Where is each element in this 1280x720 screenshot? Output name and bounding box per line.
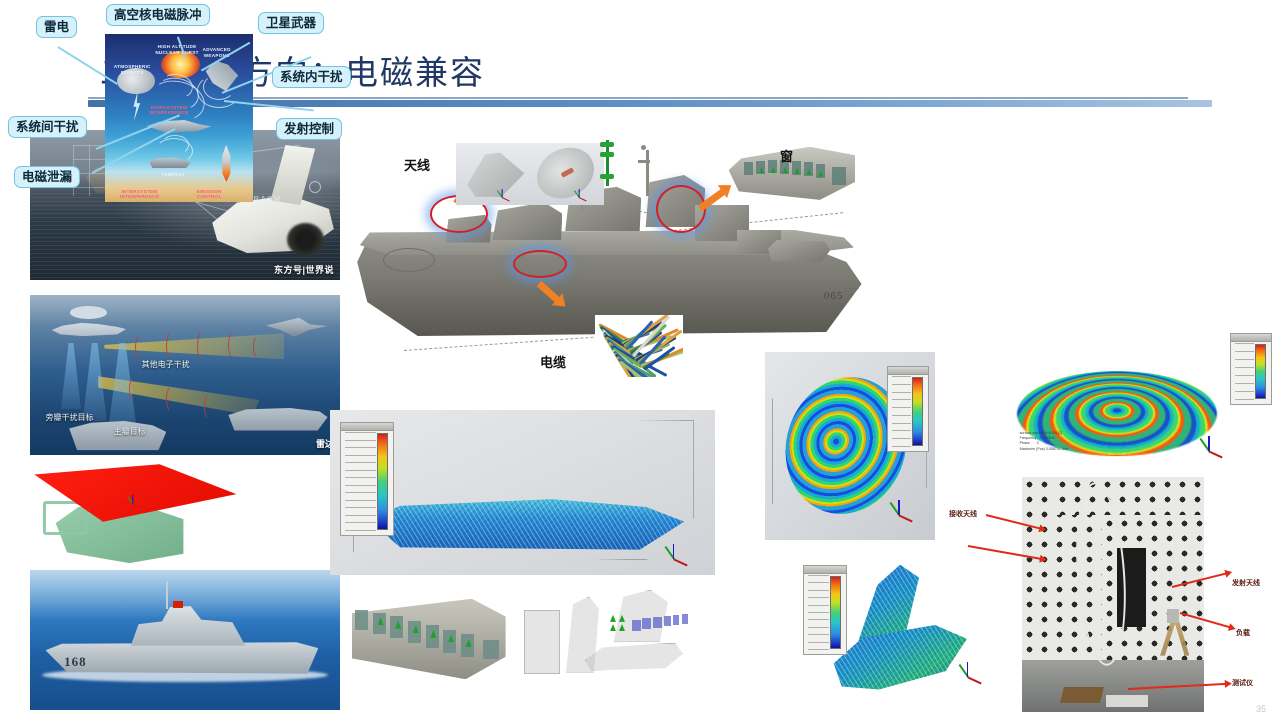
label-emission-control: EMISSIONCONTROL xyxy=(197,189,222,200)
colorbar-gradient xyxy=(1255,344,1266,399)
label-other-jamming: 其他电子干扰 xyxy=(142,359,190,370)
helicopter-deck xyxy=(768,240,830,262)
label-intrasystem-interference: INTRASYSTEMINTERFERENCE xyxy=(149,105,188,116)
window-pane-large xyxy=(483,640,499,659)
coordinate-axes-icon xyxy=(894,495,918,519)
callout-emission-control[interactable]: 发射控制 xyxy=(276,118,342,140)
radar-beam xyxy=(61,343,81,409)
hud-target-ring xyxy=(309,181,321,193)
wooden-bench xyxy=(1060,687,1104,703)
colorbar xyxy=(340,422,394,536)
coordinate-axes-icon xyxy=(669,539,693,563)
ship-mast xyxy=(166,581,168,609)
callout-intrasystem-interference[interactable]: 系统内干扰 xyxy=(272,66,351,88)
absorber-ceiling xyxy=(1055,477,1204,515)
callout-lightning[interactable]: 雷电 xyxy=(36,16,77,38)
field-cell xyxy=(632,620,641,631)
dish-antenna-model xyxy=(528,143,603,205)
cad-bridge-window-model xyxy=(352,585,512,700)
field-cell xyxy=(664,616,671,626)
mast-top-sensor xyxy=(641,145,646,150)
field-probe-icon xyxy=(610,615,616,622)
awacs-radome xyxy=(70,306,107,319)
simulation-annotation: surface current (f=8.00) [1] Frequency 8… xyxy=(1020,431,1068,453)
highlight-cable-region xyxy=(513,250,567,278)
ship-superstructure xyxy=(123,601,253,646)
field-cell xyxy=(653,617,662,628)
colorbar-ticks xyxy=(892,376,911,447)
lightning-bolt-icon xyxy=(132,91,142,121)
colorbar xyxy=(803,565,847,655)
launched-missile xyxy=(218,145,236,182)
colorbar-ticks xyxy=(345,432,376,531)
emc-illustration-image: ATMOSPHERICEFFECTS HIGH ALTITUDENUCLEAR … xyxy=(105,34,253,202)
field-cell xyxy=(673,615,679,625)
leader-dash xyxy=(404,336,604,351)
window-pane xyxy=(355,610,368,630)
label-tempest: TEMPEST xyxy=(161,172,185,178)
measuring-instrument xyxy=(1106,695,1148,707)
coordinate-axes-icon xyxy=(1204,431,1228,455)
chamber-label-load: 负载 xyxy=(1236,628,1250,638)
page-number: 35 xyxy=(1256,704,1266,714)
callout-antenna: 天线 xyxy=(404,155,430,174)
wavefront-arc xyxy=(204,394,216,420)
chamber-label-receive-antenna: 接收天线 xyxy=(949,509,977,519)
blade-antenna-model xyxy=(462,152,530,199)
watermark: 东方号|世界说 xyxy=(274,263,334,276)
highlight-window-region xyxy=(656,185,706,233)
colorbar-title xyxy=(341,423,393,431)
sim-ship-surface-current xyxy=(330,410,715,575)
green-whip-antenna-model xyxy=(600,140,614,186)
transmit-antenna-head xyxy=(1167,609,1179,623)
callout-satellite-weapon[interactable]: 卫星武器 xyxy=(258,12,324,34)
coordinate-axes-icon xyxy=(963,657,987,681)
colorbar-title xyxy=(888,367,928,375)
label-mainlobe-target: 主瓣目标 xyxy=(114,426,146,437)
colorbar-ticks xyxy=(1235,343,1254,400)
cad-radar-array-plate xyxy=(30,455,245,570)
photo-destroyer: 168 xyxy=(30,570,340,710)
window-pane xyxy=(744,162,753,175)
antenna-disc xyxy=(600,152,614,157)
sim-blade-antenna-current xyxy=(795,555,1010,715)
coordinate-axes-icon xyxy=(577,187,590,200)
window-pane-large xyxy=(832,167,846,185)
label-intersystem-interference: INTERSYSTEMINTERFERENCE xyxy=(120,189,159,200)
cad-transparent-mast-model xyxy=(520,585,700,700)
sim-radome-field xyxy=(765,352,935,540)
callout-intersystem-interference[interactable]: 系统间干扰 xyxy=(8,116,87,138)
midship-superstructure xyxy=(492,200,562,240)
callout-hemp[interactable]: 高空核电磁脉冲 xyxy=(106,4,210,26)
antenna-base xyxy=(600,174,614,179)
wavefront-arc xyxy=(197,329,211,363)
field-cell xyxy=(642,618,651,629)
label-high-altitude-nuclear-burst: HIGH ALTITUDENUCLEAR BURST xyxy=(155,44,198,55)
colorbar-ticks xyxy=(808,575,829,650)
colorbar-title xyxy=(804,566,846,574)
main-mast xyxy=(646,150,649,196)
chamber-label-transmit-antenna: 发射天线 xyxy=(1232,578,1260,588)
colorbar-gradient xyxy=(830,576,841,649)
field-probe-icon xyxy=(610,624,616,631)
hull-number: 168 xyxy=(64,654,87,670)
deck-hatch xyxy=(383,248,435,272)
mast-yard xyxy=(638,160,650,163)
aircraft xyxy=(146,118,211,135)
photo-electronic-warfare: 其他电子干扰 旁瓣干扰目标 主瓣目标 雷达 xyxy=(30,295,340,455)
inset-cable-bundle-model xyxy=(595,315,683,377)
colorbar xyxy=(887,366,929,452)
antenna-disc xyxy=(600,142,614,147)
label-atmospheric-effects: ATMOSPHERICEFFECTS xyxy=(114,64,151,75)
wavefront-arc xyxy=(135,333,149,361)
colorbar xyxy=(1230,333,1272,405)
coordinate-axes-icon xyxy=(500,187,513,200)
wavefront-arc xyxy=(129,375,142,403)
emission-wave xyxy=(197,74,241,108)
colorbar-title xyxy=(1231,334,1271,342)
field-cell xyxy=(682,614,688,624)
wavefront-arc xyxy=(166,330,180,362)
ghost-deck xyxy=(585,643,683,671)
sim-dish-surface-current: surface current (f=8.00) [1] Frequency 8… xyxy=(1000,325,1280,485)
coordinate-axes-icon xyxy=(129,492,143,506)
national-flag xyxy=(173,601,183,608)
colorbar-gradient xyxy=(377,433,388,530)
inset-antenna-models xyxy=(456,143,604,205)
colorbar-gradient xyxy=(912,377,923,446)
callout-em-leakage[interactable]: 电磁泄漏 xyxy=(14,166,80,188)
chamber-label-instrument: 测试仪 xyxy=(1232,678,1253,688)
hull-number: 065 xyxy=(824,290,844,302)
slide-root: 二、研究方向：电磁兼容 LRASM 东方号|世界说 xyxy=(0,0,1280,720)
ghost-cylinder xyxy=(524,610,560,674)
photo-anechoic-chamber xyxy=(1022,477,1204,712)
label-sidelobe-target: 旁瓣干扰目标 xyxy=(46,412,94,423)
callout-cable: 电缆 xyxy=(540,352,566,371)
callout-window: 窗 xyxy=(780,146,793,165)
